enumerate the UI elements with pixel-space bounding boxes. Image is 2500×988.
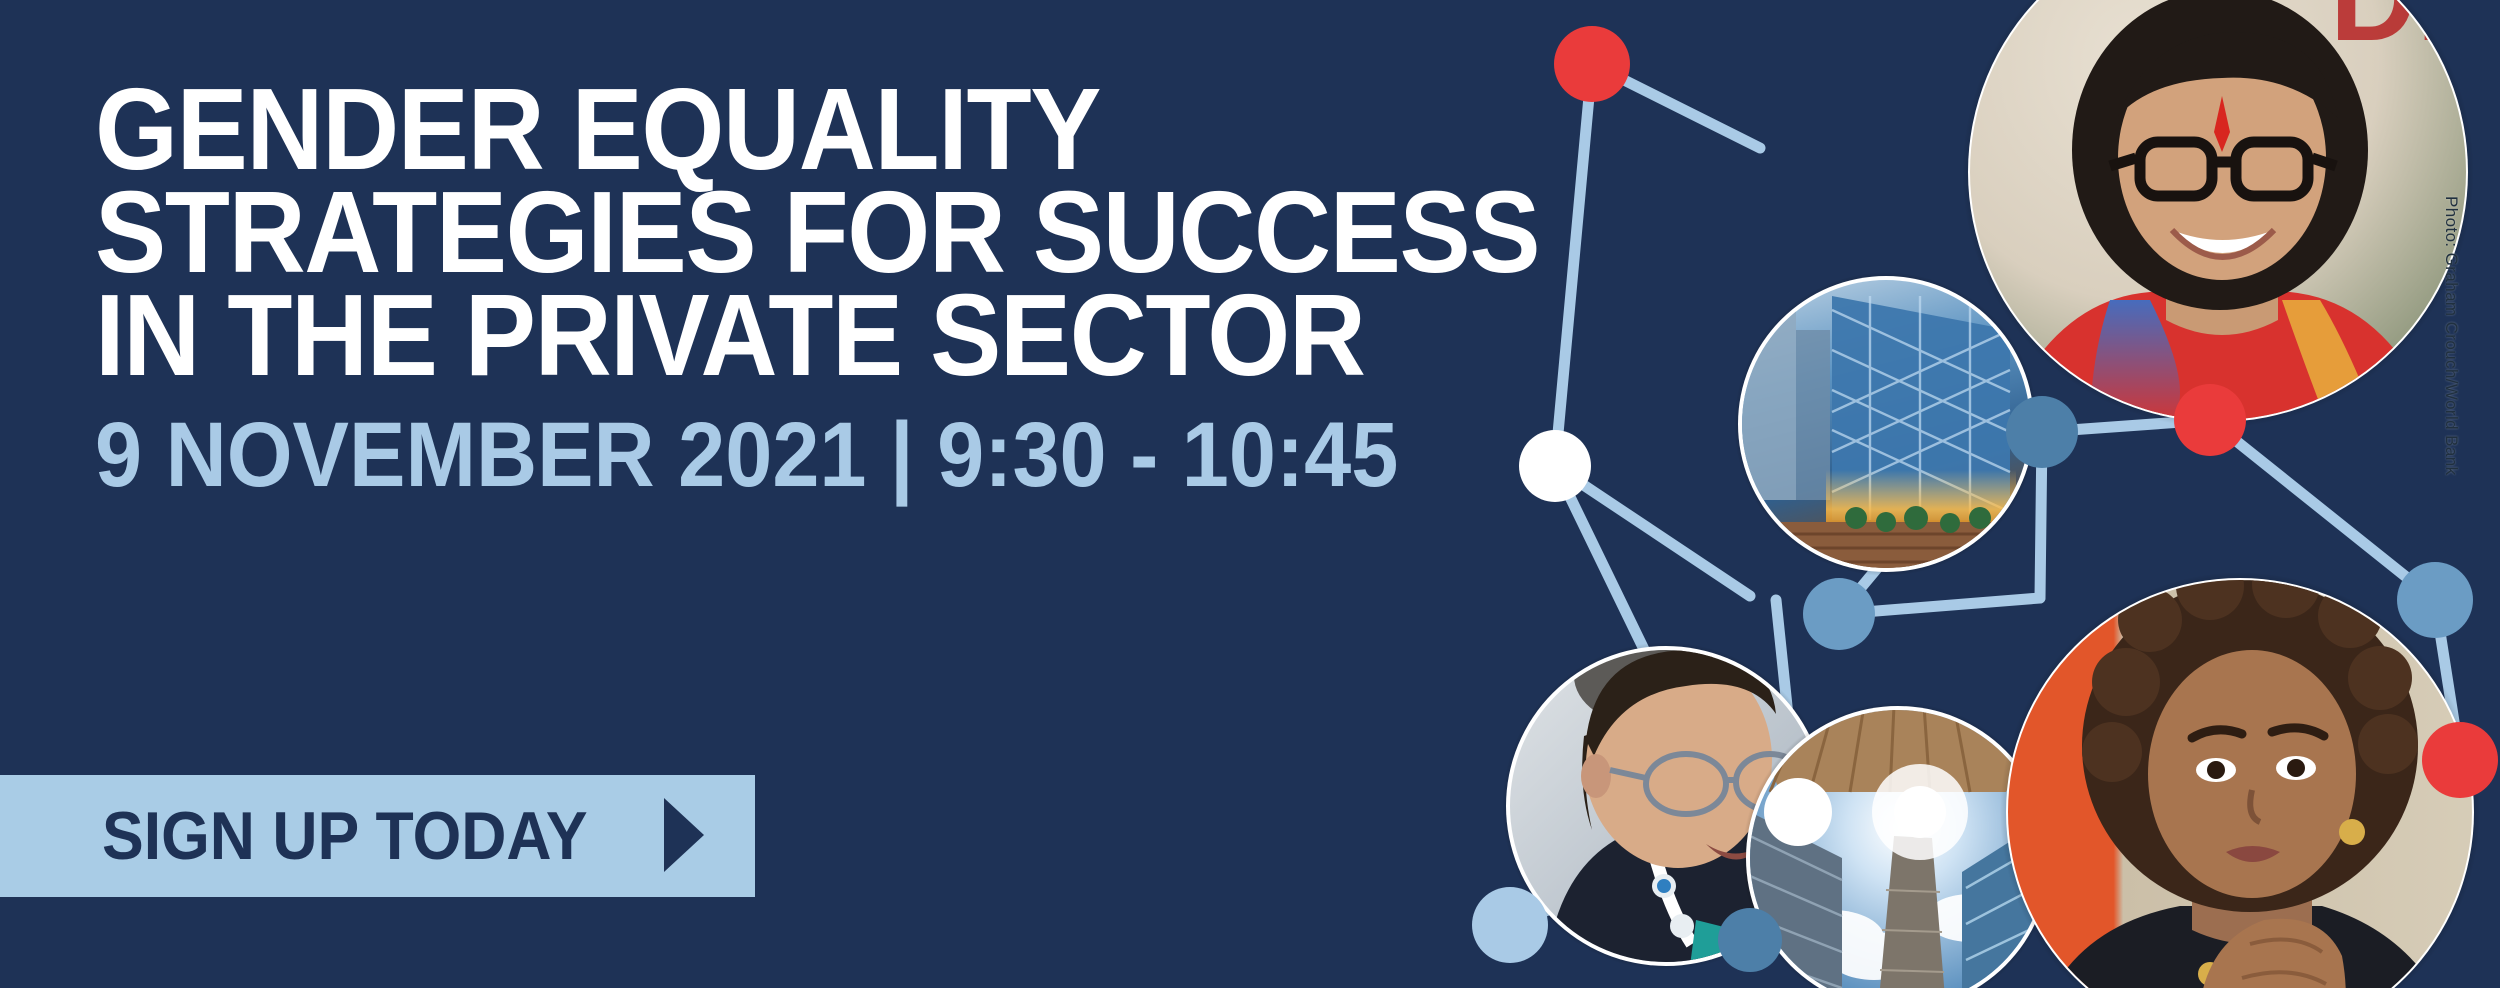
node-red-right <box>2174 384 2246 456</box>
play-triangle-right-icon <box>660 796 706 877</box>
node-slate-center <box>1803 578 1875 650</box>
photo-credit: Photo: Graham Crouch/World Bank <box>2441 196 2461 476</box>
sign-up-today-button[interactable]: SIGN UP TODAY <box>0 775 755 897</box>
event-promo-banner: DIA <box>0 0 2500 988</box>
node-red-bottom-right <box>2422 722 2498 798</box>
headline-line-3: IN THE PRIVATE SECTOR <box>95 284 1769 387</box>
sign-up-today-label: SIGN UP TODAY <box>102 797 588 875</box>
node-slate-right <box>2006 396 2078 468</box>
node-white-lower <box>1764 778 1832 846</box>
node-slate-lower-left <box>1718 908 1782 972</box>
event-date-time: 9 NOVEMBER 2021 | 9:30 - 10:45 <box>95 397 1769 513</box>
node-lightblue-left <box>1472 887 1548 963</box>
node-blue-upper-right <box>2397 562 2473 638</box>
headline-line-2: STRATEGIES FOR SUCCESS <box>95 181 1769 284</box>
headline-line-1: GENDER EQUALITY <box>95 78 1769 181</box>
headline-block: GENDER EQUALITY STRATEGIES FOR SUCCESS I… <box>95 78 1915 513</box>
photo-woman-glasses-red-scarf: DIA <box>1962 0 2500 430</box>
